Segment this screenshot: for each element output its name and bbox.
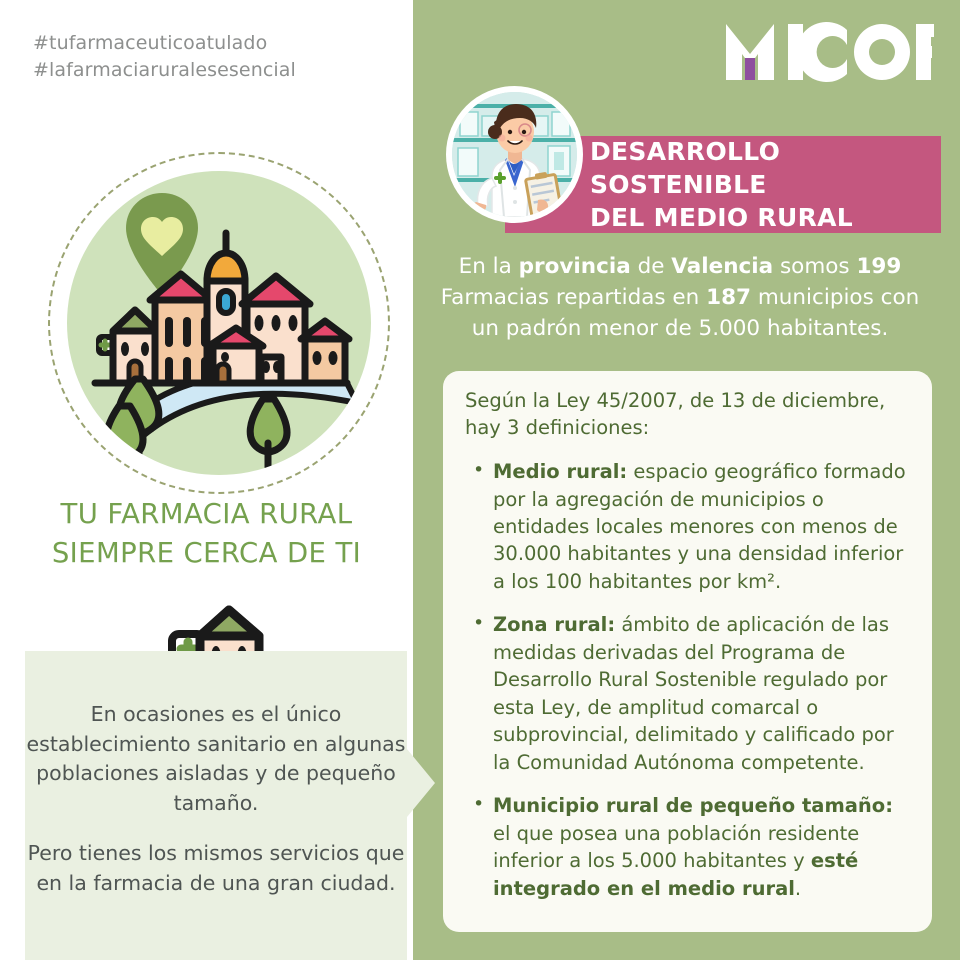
- left-body-text: En ocasiones es el único establecimiento…: [25, 700, 407, 898]
- law-term-2: Zona rural:: [493, 613, 615, 636]
- law-card-intro: Según la Ley 45/2007, de 13 de diciembre…: [465, 388, 910, 441]
- micof-logo: [722, 20, 934, 82]
- hashtags: #tufarmaceuticoatulado #lafarmaciarurale…: [33, 30, 296, 84]
- village-disc: [67, 171, 371, 475]
- pharmacist-avatar-inner: [452, 92, 577, 217]
- law-text-3: el que posea una población residente inf…: [493, 822, 859, 872]
- village-svg: [67, 171, 371, 475]
- village-illustration: [48, 152, 390, 494]
- intro-bold-187: 187: [706, 285, 751, 310]
- section-banner-title: DESARROLLO SOSTENIBLE DEL MEDIO RURAL: [590, 135, 941, 234]
- intro-part3: somos: [773, 254, 856, 279]
- law-item-zona-rural: Zona rural: ámbito de aplicación de las …: [465, 611, 910, 776]
- pharmacist-svg: [452, 92, 577, 217]
- law-tail-3: .: [795, 877, 801, 900]
- intro-part2: de: [631, 254, 672, 279]
- law-item-medio-rural: Medio rural: espacio geográfico formado …: [465, 458, 910, 595]
- intro-paragraph: En la provincia de Valencia somos 199 Fa…: [430, 252, 930, 345]
- intro-bold-provincia: provincia: [519, 254, 631, 279]
- micof-logo-svg: [722, 20, 934, 82]
- left-headline: TU FARMACIA RURAL SIEMPRE CERCA DE TI: [0, 495, 413, 573]
- pharmacist-avatar: [446, 86, 583, 223]
- intro-bold-valencia: Valencia: [671, 254, 773, 279]
- intro-part4: Farmacias repartidas en: [441, 285, 706, 310]
- intro-bold-199: 199: [856, 254, 901, 279]
- law-definitions-card: Según la Ley 45/2007, de 13 de diciembre…: [443, 371, 932, 932]
- left-paragraph-2: Pero tienes los mismos servicios que en …: [25, 839, 407, 898]
- intro-part1: En la: [459, 254, 519, 279]
- law-term-3: Municipio rural de pequeño tamaño:: [493, 794, 893, 817]
- law-item-municipio-rural: Municipio rural de pequeño tamaño: el qu…: [465, 792, 910, 902]
- law-text-2: ámbito de aplicación de las medidas deri…: [493, 613, 894, 773]
- law-term-1: Medio rural:: [493, 460, 627, 483]
- infographic-root: #tufarmaceuticoatulado #lafarmaciarurale…: [0, 0, 960, 960]
- law-definitions-list: Medio rural: espacio geográfico formado …: [465, 458, 910, 902]
- left-paragraph-1: En ocasiones es el único establecimiento…: [25, 700, 407, 819]
